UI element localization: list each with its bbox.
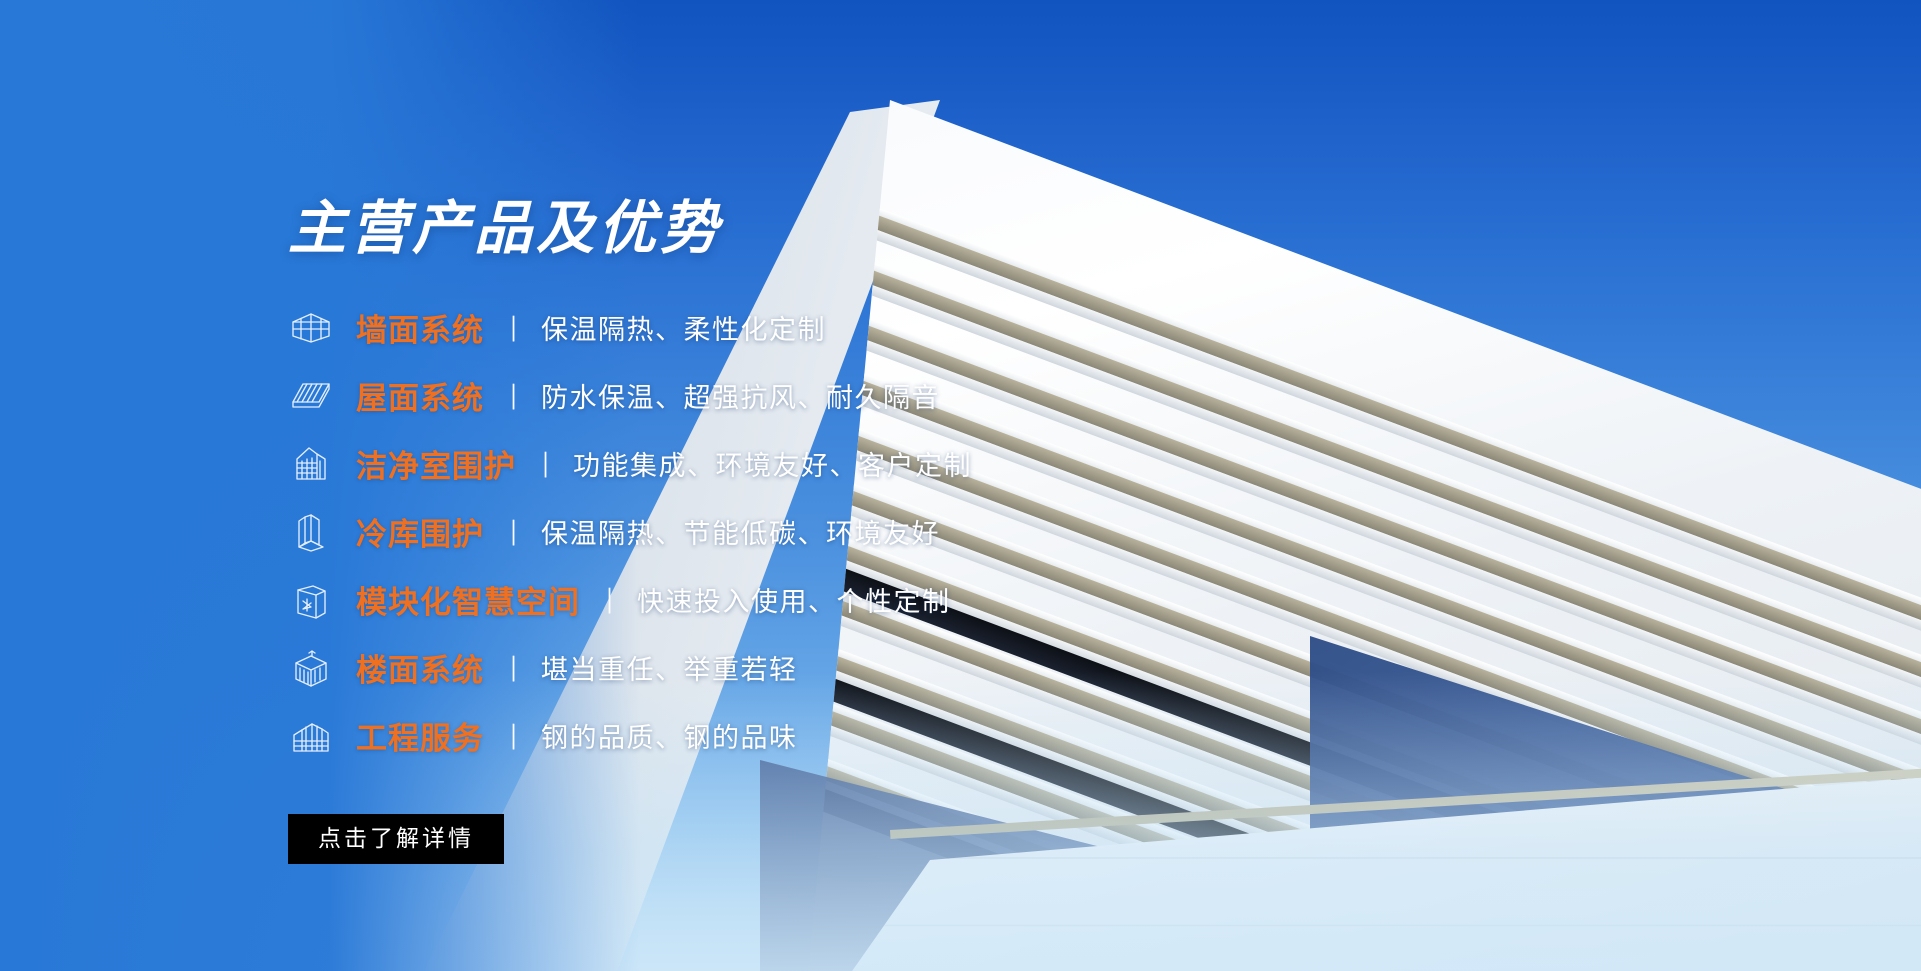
- feature-name: 模块化智慧空间: [356, 577, 580, 622]
- feature-description: 功能集成、环境友好、客户定制: [573, 444, 972, 483]
- feature-name: 工程服务: [356, 713, 484, 758]
- product-advantages-banner: 主营产品及优势 墙面系统丨保温隔热、柔性化定制 屋面系统丨防水保温、超强抗风、耐…: [0, 0, 1921, 971]
- facade-band: [1293, 286, 1569, 949]
- banner-content: 主营产品及优势 墙面系统丨保温隔热、柔性化定制 屋面系统丨防水保温、超强抗风、耐…: [288, 200, 1228, 864]
- facade-band: [1299, 115, 1575, 778]
- facade-band: [1283, 571, 1559, 971]
- feature-name: 楼面系统: [356, 645, 484, 690]
- feature-separator: 丨: [506, 308, 521, 347]
- feature-name: 冷库围护: [356, 509, 484, 554]
- feature-description: 保温隔热、柔性化定制: [541, 308, 826, 347]
- feature-description: 快速投入使用、个性定制: [637, 580, 951, 619]
- facade-band: [1295, 229, 1571, 892]
- feature-row[interactable]: 屋面系统丨防水保温、超强抗风、耐久隔音: [288, 368, 1228, 423]
- floor-system-box-icon: [288, 647, 334, 689]
- feature-description: 堪当重任、举重若轻: [541, 648, 798, 687]
- page-title: 主营产品及优势: [288, 200, 1228, 258]
- feature-description: 防水保温、超强抗风、耐久隔音: [541, 376, 940, 415]
- facade-band: [1287, 457, 1563, 971]
- feature-separator: 丨: [506, 648, 521, 687]
- feature-description: 钢的品质、钢的品味: [541, 716, 798, 755]
- feature-row[interactable]: 墙面系统丨保温隔热、柔性化定制: [288, 300, 1228, 355]
- feature-name: 屋面系统: [356, 373, 484, 418]
- modular-cube-icon: [288, 579, 334, 621]
- cleanroom-building-icon: [288, 443, 334, 485]
- blue-panel-upper: [1310, 600, 1921, 900]
- feature-description: 保温隔热、节能低碳、环境友好: [541, 512, 940, 551]
- feature-separator: 丨: [506, 716, 521, 755]
- feature-row[interactable]: 工程服务丨钢的品质、钢的品味: [288, 708, 1228, 763]
- facade-band: [1289, 400, 1565, 971]
- feature-list: 墙面系统丨保温隔热、柔性化定制 屋面系统丨防水保温、超强抗风、耐久隔音 洁净室围…: [288, 300, 1228, 763]
- feature-row[interactable]: 洁净室围护丨功能集成、环境友好、客户定制: [288, 436, 1228, 491]
- feature-row[interactable]: 冷库围护丨保温隔热、节能低碳、环境友好: [288, 504, 1228, 559]
- feature-separator: 丨: [506, 376, 521, 415]
- facade-band: [1291, 343, 1567, 971]
- facade-band: [1285, 514, 1561, 971]
- facade-band: [1279, 685, 1555, 971]
- feature-name: 墙面系统: [356, 305, 484, 350]
- feature-row[interactable]: 模块化智慧空间丨快速投入使用、个性定制: [288, 572, 1228, 627]
- roof-panel-wireframe-icon: [288, 375, 334, 417]
- wall-panel-wireframe-icon: [288, 307, 334, 349]
- learn-more-button[interactable]: 点击了解详情: [288, 814, 504, 864]
- cold-storage-icon: [288, 511, 334, 553]
- feature-separator: 丨: [602, 580, 617, 619]
- feature-separator: 丨: [538, 444, 553, 483]
- engineering-service-icon: [288, 715, 334, 757]
- feature-name: 洁净室围护: [356, 441, 516, 486]
- facade-band: [1281, 628, 1557, 971]
- feature-row[interactable]: 楼面系统丨堪当重任、举重若轻: [288, 640, 1228, 695]
- facade-band: [1297, 172, 1573, 835]
- feature-separator: 丨: [506, 512, 521, 551]
